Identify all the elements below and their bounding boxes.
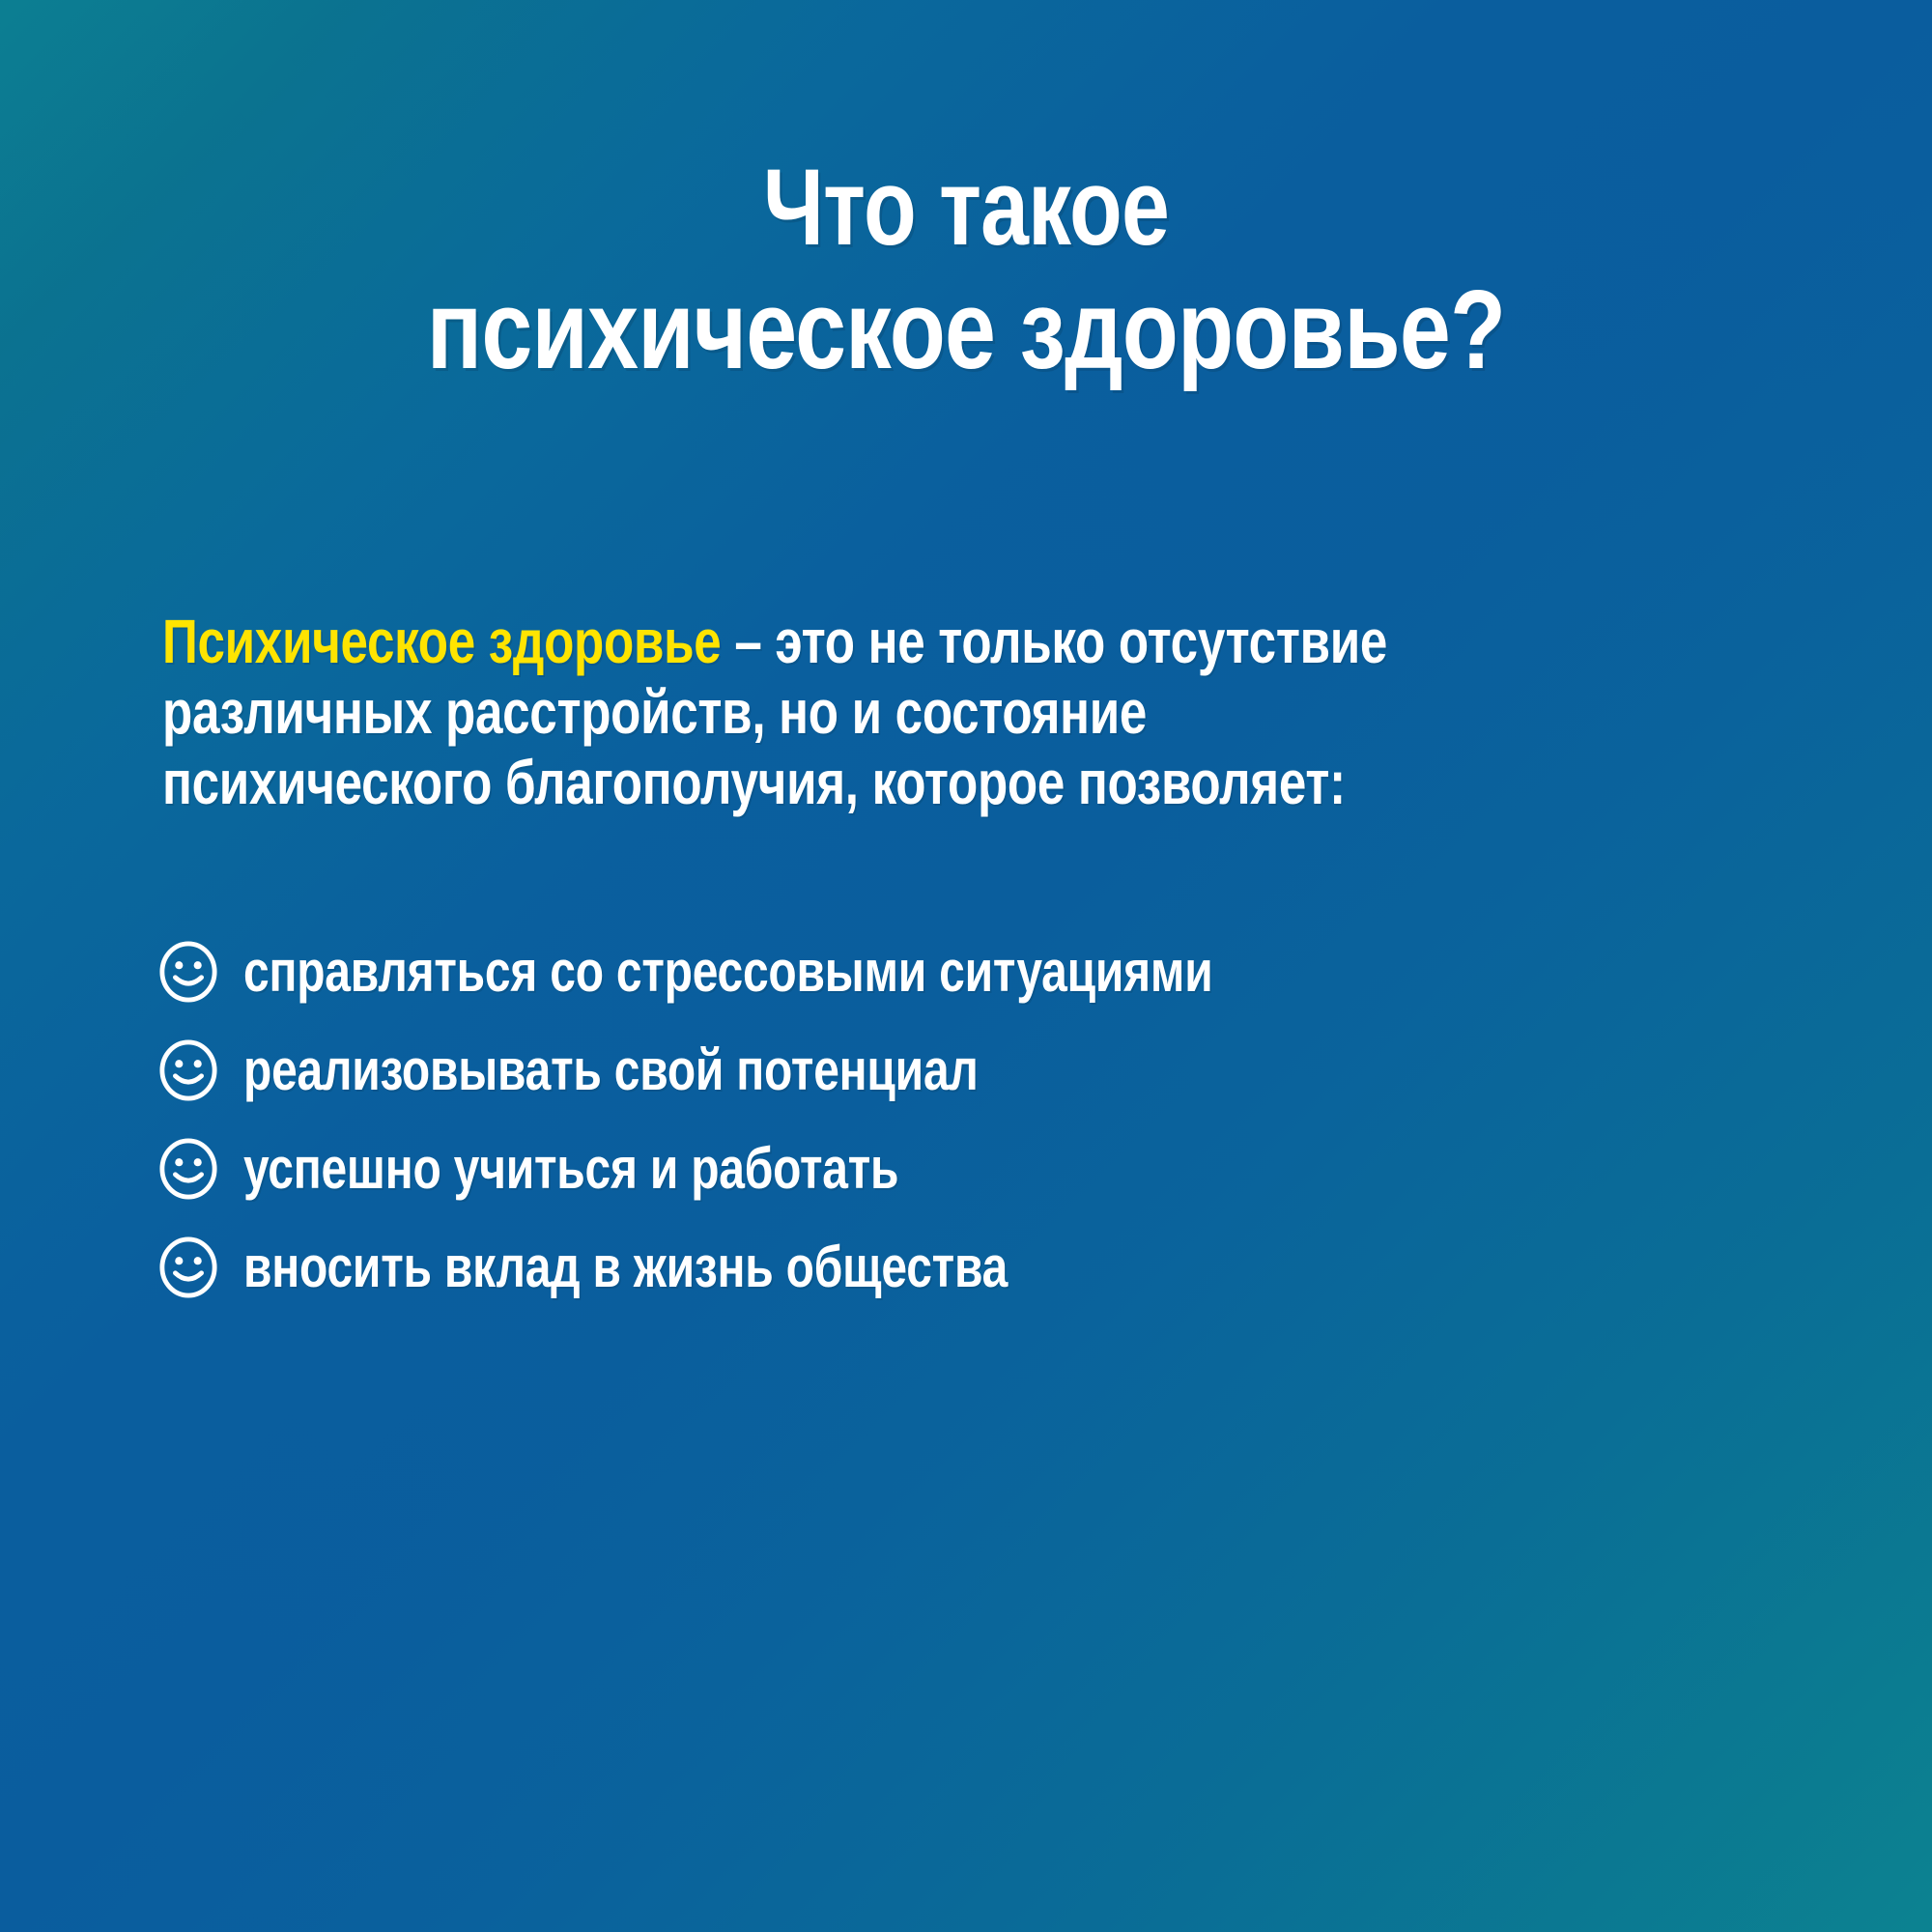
list-item-label: вносить вклад в жизнь общества	[243, 1238, 1008, 1296]
intro-highlight-term: Психическое здоровье	[162, 607, 721, 676]
list-item-label: успешно учиться и работать	[243, 1140, 898, 1198]
smiley-face-icon	[158, 1237, 218, 1297]
smiley-face-icon	[158, 942, 218, 1002]
list-item-label: справляться со стрессовыми ситуациями	[243, 943, 1212, 1001]
poster-canvas: Что такое психическое здоровье? Психичес…	[0, 0, 1932, 1932]
intro-line-3: психического благополучия, которое позво…	[162, 748, 1461, 818]
intro-line-1-rest: – это не только отсутствие	[721, 607, 1387, 676]
smiley-face-icon	[158, 1040, 218, 1100]
smiley-face-icon	[158, 1139, 218, 1199]
title-line-2: психическое здоровье?	[221, 268, 1711, 393]
list-item: успешно учиться и работать	[158, 1120, 1801, 1218]
benefits-list: справляться со стрессовыми ситуациями ре…	[158, 923, 1801, 1317]
intro-paragraph: Психическое здоровье – это не только отс…	[162, 607, 1785, 818]
page-title: Что такое психическое здоровье?	[0, 147, 1932, 393]
list-item: вносить вклад в жизнь общества	[158, 1218, 1801, 1317]
title-line-1: Что такое	[240, 147, 1692, 268]
poster-content: Что такое психическое здоровье? Психичес…	[0, 0, 1932, 1932]
list-item: реализовывать свой потенциал	[158, 1021, 1801, 1120]
list-item-label: реализовывать свой потенциал	[243, 1041, 979, 1099]
intro-line-1: Психическое здоровье – это не только отс…	[162, 607, 1461, 677]
list-item: справляться со стрессовыми ситуациями	[158, 923, 1801, 1021]
intro-line-2: различных расстройств, но и состояние	[162, 677, 1461, 748]
